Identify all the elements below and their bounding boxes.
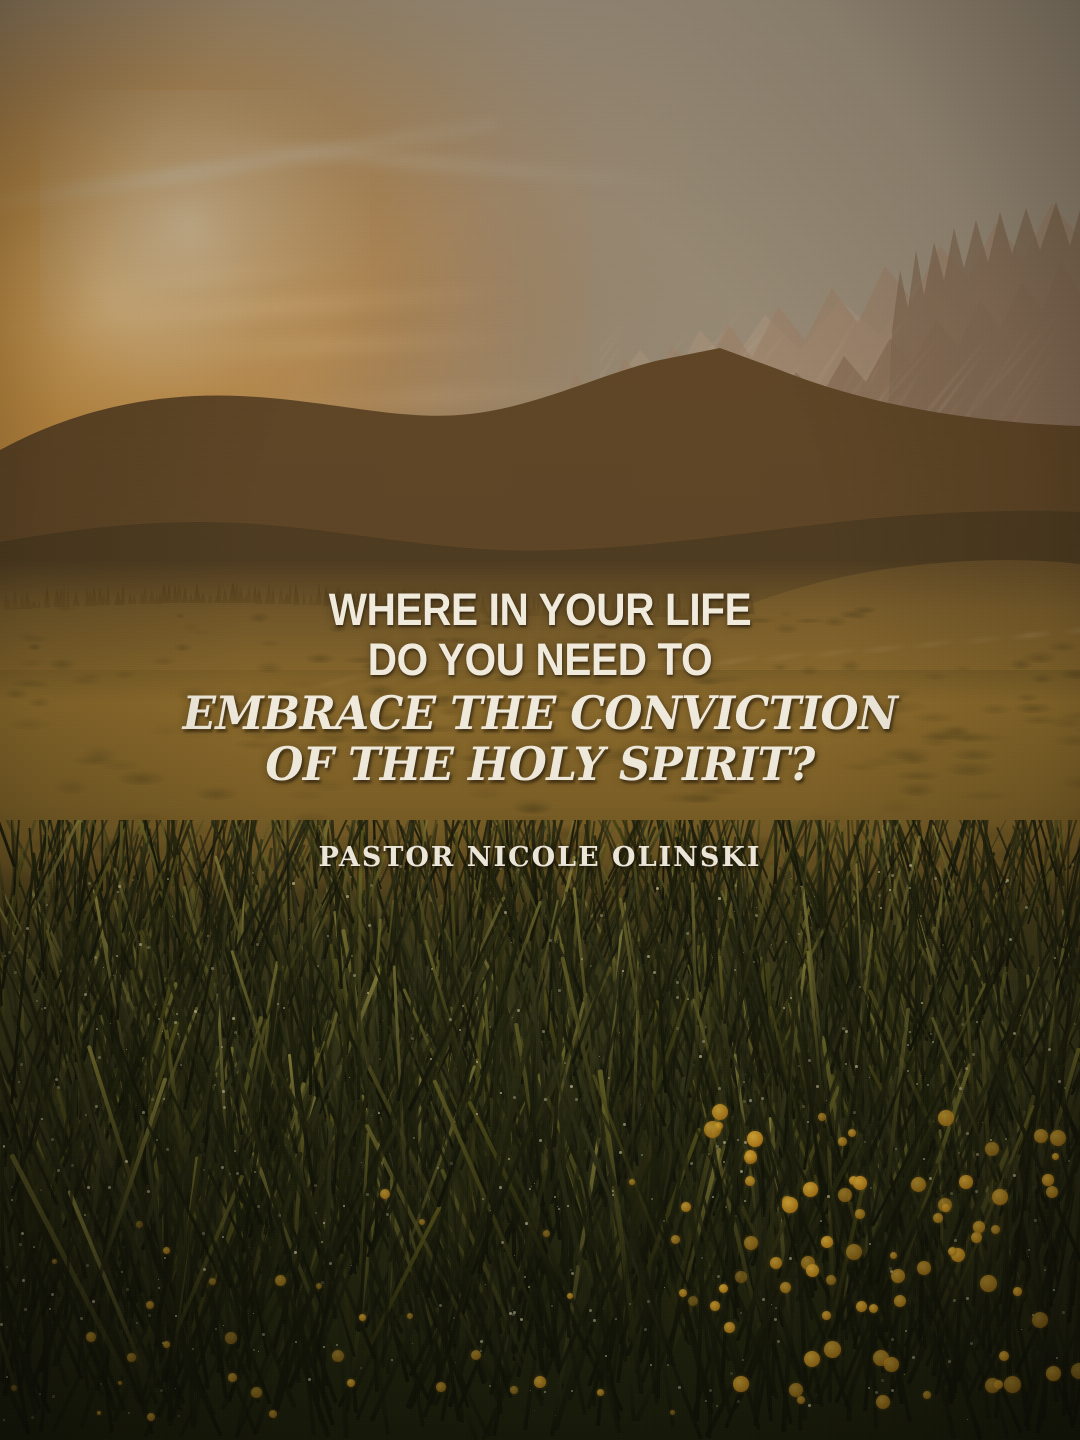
attribution-byline: PASTOR NICOLE OLINSKI (0, 842, 1080, 873)
quote-emphasis-line-2: OF THE HOLY SPIRIT? (27, 739, 1053, 790)
quote-line-1: WHERE IN YOUR LIFE (54, 585, 1026, 635)
quote-line-2: DO YOU NEED TO (54, 635, 1026, 685)
quote-poster: WHERE IN YOUR LIFE DO YOU NEED TO EMBRAC… (0, 0, 1080, 1440)
quote-block: WHERE IN YOUR LIFE DO YOU NEED TO EMBRAC… (0, 585, 1080, 873)
quote-emphasis-line-1: EMBRACE THE CONVICTION (27, 688, 1053, 739)
buttercup-flowers (0, 1080, 1080, 1440)
